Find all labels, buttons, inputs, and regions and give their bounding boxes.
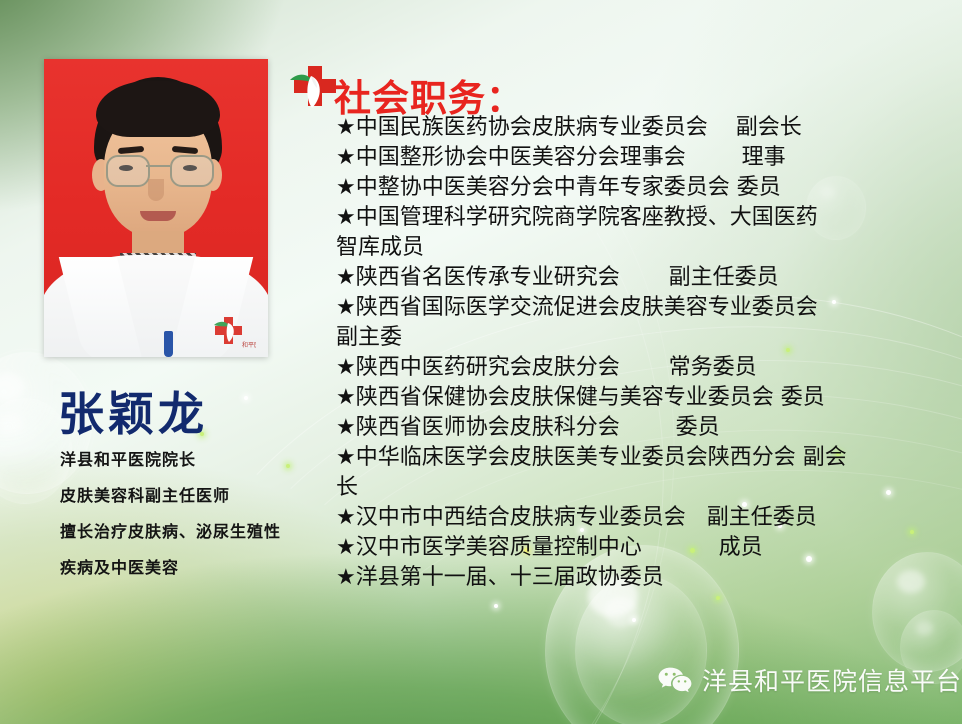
- wechat-watermark: 洋县和平医院信息平台: [658, 662, 962, 698]
- wechat-icon: [658, 666, 692, 694]
- duty-item: ★中华临床医学会皮肤医美专业委员会陕西分会 副会: [336, 443, 954, 473]
- doctor-portrait-photo: 和平医院: [44, 59, 268, 357]
- decorative-sparkle: [494, 604, 498, 608]
- duty-item: ★陕西中医药研究会皮肤分会 常务委员: [336, 353, 954, 383]
- credential-line: 洋县和平医院院长: [60, 442, 328, 478]
- slide-canvas: 和平医院 张颖龙 洋县和平医院院长 皮肤美容科副主任医师 擅长治疗皮肤病、泌尿生…: [0, 0, 962, 724]
- duty-item: ★中整协中医美容分会中青年专家委员会 委员: [336, 173, 954, 203]
- portrait-fringe: [96, 81, 220, 137]
- portrait-nose: [148, 179, 164, 201]
- duty-item: ★陕西省医师协会皮肤科分会 委员: [336, 413, 954, 443]
- duty-item-continuation: 智库成员: [336, 233, 954, 263]
- duty-item: ★汉中市医学美容质量控制中心 成员: [336, 533, 954, 563]
- credential-line: 擅长治疗皮肤病、泌尿生殖性: [60, 514, 328, 550]
- duty-item: ★陕西省保健协会皮肤保健与美容专业委员会 委员: [336, 383, 954, 413]
- portrait-glasses-right: [170, 155, 214, 187]
- decorative-sparkle: [244, 396, 248, 400]
- wechat-label: 洋县和平医院信息平台: [702, 662, 962, 698]
- red-cross-dove-icon: [288, 64, 340, 114]
- portrait-glasses-bridge: [146, 165, 170, 167]
- duty-item-continuation: 副主委: [336, 323, 954, 353]
- portrait-mouth: [140, 211, 176, 221]
- doctor-credentials: 洋县和平医院院长 皮肤美容科副主任医师 擅长治疗皮肤病、泌尿生殖性 疾病及中医美…: [60, 442, 328, 586]
- duty-item: ★中国管理科学研究院商学院客座教授、大国医药: [336, 203, 954, 233]
- hospital-logo-badge-icon: 和平医院: [202, 313, 256, 349]
- duty-item: ★中国民族医药协会皮肤病专业委员会 副会长: [336, 113, 954, 143]
- social-duties-list: ★中国民族医药协会皮肤病专业委员会 副会长 ★中国整形协会中医美容分会理事会 理…: [336, 113, 954, 593]
- duty-item: ★洋县第十一届、十三届政协委员: [336, 563, 954, 593]
- duty-item-continuation: 长: [336, 473, 954, 503]
- credential-line: 疾病及中医美容: [60, 550, 328, 586]
- duty-item: ★陕西省国际医学交流促进会皮肤美容专业委员会: [336, 293, 954, 323]
- portrait-pen: [164, 331, 173, 357]
- duty-item: ★中国整形协会中医美容分会理事会 理事: [336, 143, 954, 173]
- duty-item: ★汉中市中西结合皮肤病专业委员会 副主任委员: [336, 503, 954, 533]
- portrait-glasses-left: [106, 155, 150, 187]
- decorative-sparkle: [632, 618, 636, 622]
- duty-item: ★陕西省名医传承专业研究会 副主任委员: [336, 263, 954, 293]
- credential-line: 皮肤美容科副主任医师: [60, 478, 328, 514]
- svg-text:和平医院: 和平医院: [242, 341, 256, 349]
- decorative-bubble: [575, 575, 707, 724]
- decorative-sparkle: [716, 596, 720, 600]
- doctor-name: 张颖龙: [58, 378, 208, 444]
